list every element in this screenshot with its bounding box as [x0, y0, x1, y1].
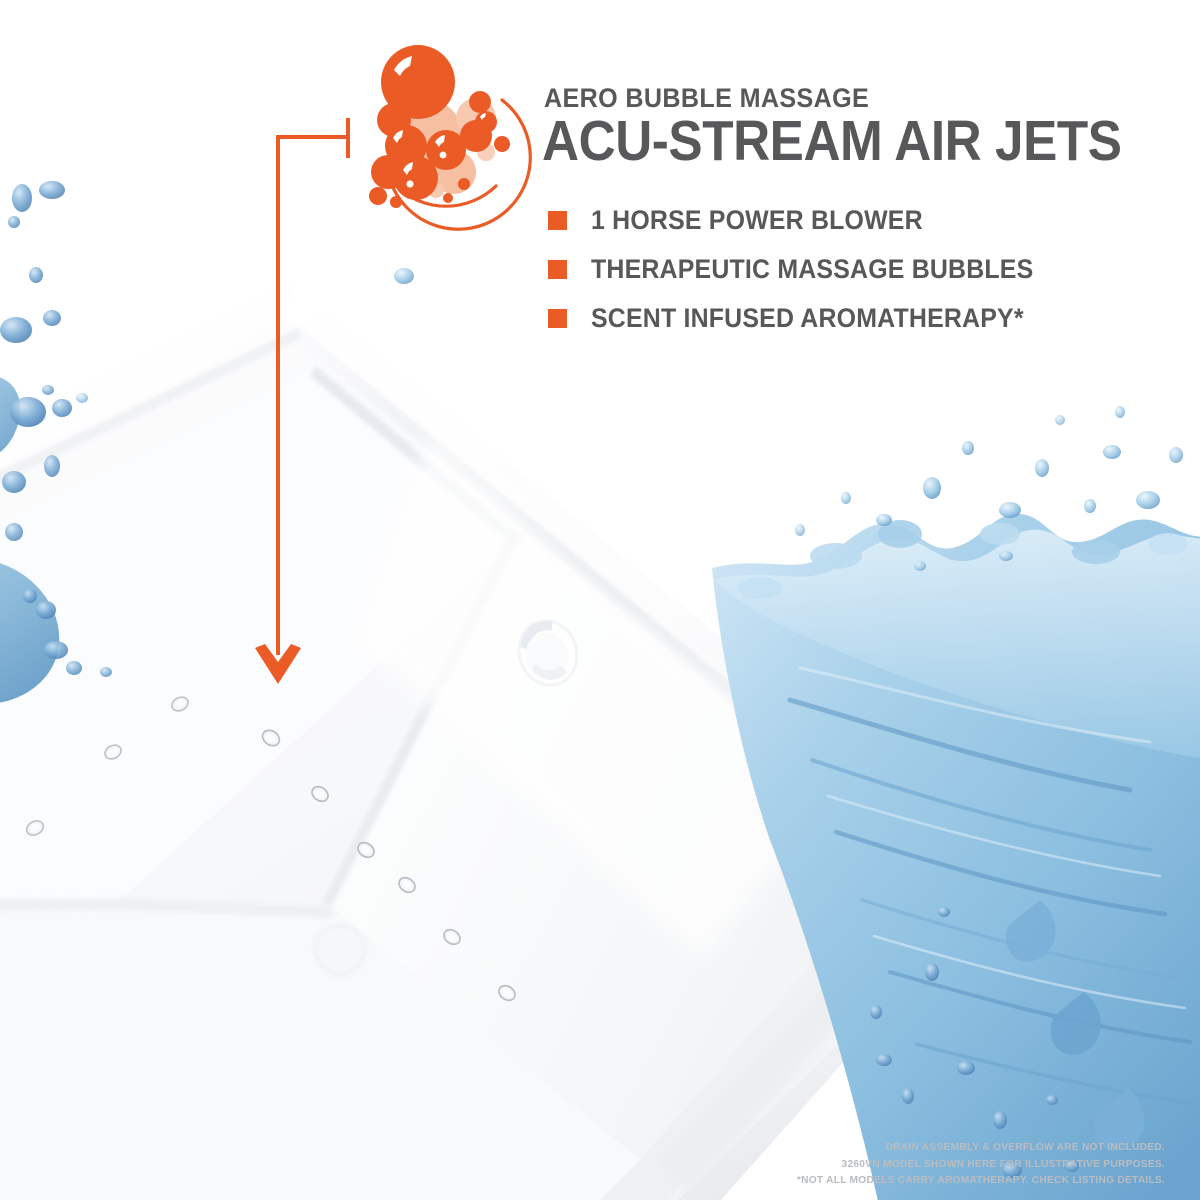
disclaimer-block: DRAIN ASSEMBLY & OVERFLOW ARE NOT INCLUD… — [797, 1140, 1165, 1190]
product-feature-graphic: AERO BUBBLE MASSAGE ACU-STREAM AIR JETS … — [0, 0, 1200, 1200]
disclaimer-line: *NOT ALL MODELS CARRY AROMATHERAPY. CHEC… — [797, 1173, 1165, 1190]
disclaimer-line: DRAIN ASSEMBLY & OVERFLOW ARE NOT INCLUD… — [797, 1140, 1165, 1157]
fineprint-layer: DRAIN ASSEMBLY & OVERFLOW ARE NOT INCLUD… — [0, 0, 1200, 1200]
disclaimer-line: 3260VN MODEL SHOWN HERE FOR ILLUSTRATIVE… — [797, 1157, 1165, 1174]
